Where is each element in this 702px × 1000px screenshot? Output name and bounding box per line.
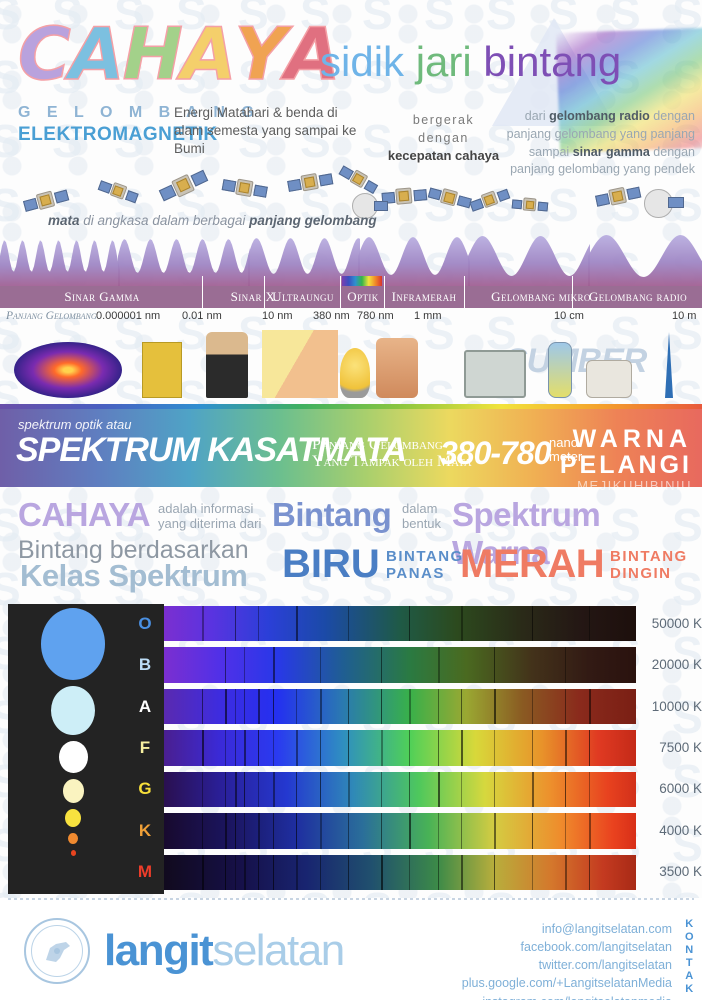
absorption-line: [494, 647, 495, 682]
bintang-dingin-line1: BINTANG: [610, 548, 688, 565]
class-letter-F: F: [126, 738, 164, 758]
contact-line[interactable]: twitter.com/langitselatan: [462, 956, 672, 974]
em-band-inframerah: Inframerah: [386, 286, 462, 308]
wavelength-label: 380 nm: [313, 310, 350, 322]
absorption-line: [565, 689, 566, 724]
absorption-line: [381, 689, 382, 724]
dengan2-text: dengan: [650, 145, 695, 159]
source-icon-row: SUMBER: [0, 328, 702, 406]
bintang-panas-line2: PANAS: [386, 565, 464, 582]
absorption-line: [235, 855, 236, 890]
absorption-line: [273, 813, 274, 848]
radiator-heater-icon: [376, 338, 418, 398]
wavelength-label: 0.000001 nm: [96, 310, 160, 322]
warna-label: WARNA: [560, 427, 692, 453]
subtitle-word-jari: jari: [416, 38, 484, 85]
header-col-energy: Energi Matahari & benda di alam semesta …: [174, 104, 359, 159]
em-spectrum-band-bar: Sinar GammaSinar XUltraunguOptikInframer…: [0, 286, 702, 308]
visible-spectrum-banner: spektrum optik atau SPEKTRUM KASATMATA P…: [0, 409, 702, 487]
star-disc-M: [71, 850, 76, 856]
absorption-line: [320, 813, 322, 848]
absorption-line: [494, 689, 496, 724]
absorption-line: [461, 606, 463, 641]
temperature-label-K: 4000 K: [640, 823, 702, 838]
sinar-gamma-text: sinar gamma: [573, 145, 650, 159]
band-divider: [464, 276, 465, 308]
spectrum-strip-rows: [164, 604, 636, 894]
em-band-sinar-gamma: Sinar Gamma: [4, 286, 200, 308]
em-band-optik: Optik: [342, 286, 384, 308]
spectral-class-chart: OBAFGKM 50000 K20000 K10000 K7500 K6000 …: [8, 604, 694, 894]
satellite-icon: [286, 165, 337, 203]
langitselatan-seal-logo: [24, 918, 90, 984]
satellite-icon: [593, 179, 644, 218]
contact-line[interactable]: instagram.com/langitselatanmedia: [462, 993, 672, 1000]
class-letter-G: G: [126, 779, 164, 799]
spectrum-strip-K: [164, 813, 636, 848]
absorption-line: [532, 689, 533, 724]
mata-text: mata: [48, 213, 80, 228]
absorption-line: [235, 689, 236, 724]
contact-line[interactable]: info@langitselatan.com: [462, 920, 672, 938]
title-letter-2: H: [123, 22, 181, 87]
absorption-line: [235, 772, 237, 807]
absorption-line: [202, 855, 204, 890]
star-disc-B: [51, 686, 95, 735]
absorption-line: [273, 647, 275, 682]
absorption-line: [589, 689, 591, 724]
em-band-ultraungu: Ultraungu: [266, 286, 340, 308]
star-disc-A: [59, 741, 88, 773]
temperature-label-F: 7500 K: [640, 740, 702, 755]
wavelength-label: 10 m: [672, 310, 696, 322]
warna-pelangi-block: WARNA PELANGI MEJIKUHIBINIU: [560, 427, 692, 495]
spectrum-strip-G: [164, 772, 636, 807]
absorption-line: [409, 606, 410, 641]
absorption-line: [225, 855, 226, 890]
panjang-gelombang-caption: Panjang Gelombang: [6, 310, 97, 322]
bintang-dingin-text: BINTANG DINGIN: [610, 548, 688, 583]
absorption-line: [438, 813, 439, 848]
temperature-label-B: 20000 K: [640, 657, 702, 672]
satellite-icon: [220, 171, 271, 209]
panjang-panjang-text: panjang gelombang yang panjang: [505, 126, 695, 144]
bintang-panas-text: BINTANG PANAS: [386, 548, 464, 583]
absorption-line: [381, 772, 382, 807]
absorption-line: [532, 606, 533, 641]
logo-langit: langit: [104, 926, 212, 975]
absorption-line: [273, 772, 275, 807]
absorption-line: [461, 689, 462, 724]
absorption-line: [532, 813, 533, 848]
absorption-line: [589, 730, 590, 765]
absorption-line: [348, 855, 349, 890]
dari-text: dari: [525, 109, 549, 123]
wavelength-label: 780 nm: [357, 310, 394, 322]
absorption-line: [202, 689, 203, 724]
satellite-icon: [95, 173, 143, 213]
absorption-line: [273, 855, 274, 890]
satellite-caption: mata di angkasa dalam berbagai panjang g…: [48, 213, 377, 228]
spectrum-strip-F: [164, 730, 636, 765]
temperature-label-A: 10000 K: [640, 699, 702, 714]
visible-band-swatch: [342, 276, 382, 286]
caption-mid-text: di angkasa dalam berbagai: [80, 213, 250, 228]
absorption-line: [438, 689, 439, 724]
absorption-line: [438, 855, 439, 890]
absorption-line: [225, 730, 226, 765]
bentuk-line2: bentuk: [402, 517, 441, 532]
absorption-line: [461, 855, 463, 890]
absorption-line: [320, 730, 321, 765]
bintang-dingin-line2: DINGIN: [610, 565, 688, 582]
absorption-line: [409, 689, 411, 724]
absorption-line: [438, 772, 440, 807]
bergerak-label: bergerak dengan: [386, 112, 501, 147]
kontak-letter: K: [685, 918, 694, 931]
satellite-icon: [467, 181, 515, 221]
page-subtitle: sidik jari bintang: [320, 38, 621, 86]
logo-selatan: selatan: [212, 926, 343, 975]
absorption-line: [244, 730, 246, 765]
wavelength-label: 10 cm: [554, 310, 584, 322]
absorption-line: [273, 730, 274, 765]
dalam-line1: dalam: [402, 502, 441, 517]
satellite-icon: [425, 180, 475, 219]
absorption-line: [461, 813, 462, 848]
absorption-line: [296, 730, 298, 765]
absorption-line: [258, 813, 260, 848]
absorption-line: [320, 647, 321, 682]
star-disc-F: [63, 779, 84, 803]
dotted-divider: [8, 898, 694, 900]
poster-footer: langitselatan info@langitselatan.comface…: [0, 898, 702, 1000]
mobile-phone-icon: [548, 342, 572, 398]
satellite-icon: [511, 191, 550, 218]
absorption-line: [348, 772, 350, 807]
page-title: CAHAYA: [18, 22, 338, 87]
statement-block: CAHAYA adalah informasi yang diterima da…: [0, 492, 702, 598]
microwave-oven-icon: [464, 350, 526, 398]
subtitle-word-sidik: sidik: [320, 38, 416, 85]
adalah-line2: yang diterima dari: [158, 517, 261, 532]
kontak-vertical-label: KONTAK: [685, 918, 694, 996]
spectrum-strip-B: [164, 647, 636, 682]
class-letter-column: OBAFGKM: [126, 604, 164, 894]
absorption-line: [589, 813, 591, 848]
kontak-letter: N: [685, 944, 694, 957]
subtitle-word-bintang: bintang: [483, 38, 621, 85]
absorption-line: [494, 855, 495, 890]
star-disc-O: [41, 608, 105, 680]
absorption-line: [296, 606, 298, 641]
absorption-line: [381, 730, 383, 765]
absorption-line: [235, 813, 236, 848]
contact-list: info@langitselatan.comfacebook.com/langi…: [462, 920, 672, 1000]
wavelength-label: 1 mm: [414, 310, 442, 322]
satellite-zone: mata di angkasa dalam berbagai panjang g…: [0, 165, 702, 287]
kontak-letter: O: [685, 931, 694, 944]
radiation-hazard-sign-icon: [142, 342, 182, 398]
star-disc-G: [65, 809, 81, 827]
absorption-line: [225, 813, 227, 848]
absorption-line: [202, 813, 203, 848]
dalam-bentuk-text: dalam bentuk: [402, 502, 441, 531]
spectrum-strip-M: [164, 855, 636, 890]
absorption-line: [258, 772, 259, 807]
absorption-line: [244, 855, 246, 890]
pelangi-label: PELANGI: [560, 453, 692, 479]
title-letter-0: C: [18, 22, 69, 87]
wavelength-label: 0.01 nm: [182, 310, 222, 322]
absorption-line: [494, 813, 496, 848]
bintang-panas-line1: BINTANG: [386, 548, 464, 565]
sampai-text: sampai: [529, 145, 573, 159]
kontak-letter: T: [685, 957, 694, 970]
absorption-line: [565, 772, 566, 807]
bintang-word: Bintang: [272, 496, 391, 534]
title-letter-1: A: [69, 22, 123, 87]
band-divider: [384, 276, 385, 308]
class-letter-K: K: [126, 821, 164, 841]
sunbathing-woman-icon: [262, 330, 338, 398]
absorption-line: [348, 606, 349, 641]
xray-boy-icon: [206, 332, 248, 398]
absorption-line: [461, 730, 463, 765]
absorption-line: [565, 813, 566, 848]
satellite-icon: [381, 181, 429, 215]
absorption-line: [565, 647, 566, 682]
poster-header: CAHAYA sidik jari bintang G E L O M B A …: [0, 0, 702, 165]
absorption-line: [202, 606, 204, 641]
absorption-line: [296, 855, 298, 890]
absorption-line: [225, 772, 226, 807]
absorption-line: [258, 689, 260, 724]
galaxy-gamma-map-icon: [14, 342, 122, 398]
absorption-line: [320, 689, 322, 724]
title-letter-4: Y: [235, 22, 285, 87]
absorption-line: [494, 730, 495, 765]
header-col-speed: bergerak dengan kecepatan cahaya: [386, 112, 501, 166]
absorption-line: [409, 730, 410, 765]
adalah-informasi-text: adalah informasi yang diterima dari: [158, 502, 261, 531]
radio-receiver-icon: [586, 360, 632, 398]
absorption-line: [296, 813, 297, 848]
adalah-line1: adalah informasi: [158, 502, 261, 517]
absorption-line: [258, 855, 259, 890]
langitselatan-wordmark: langitselatan: [104, 926, 344, 976]
absorption-line: [381, 813, 382, 848]
spectrum-strip-O: [164, 606, 636, 641]
absorption-line: [235, 606, 236, 641]
merah-word: MERAH: [460, 542, 604, 587]
class-letter-B: B: [126, 655, 164, 675]
absorption-line: [296, 772, 297, 807]
dengan-text: dengan: [650, 109, 695, 123]
absorption-line: [381, 647, 382, 682]
absorption-line: [348, 689, 349, 724]
infographic-poster: SSSSSSSSSSSSSSSSSSSSSSSSSSSSSSSSSSSSSSSS…: [0, 0, 702, 1000]
contact-line[interactable]: plus.google.com/+LangitselatanMedia: [462, 974, 672, 992]
absorption-line: [532, 855, 533, 890]
absorption-line: [565, 730, 567, 765]
title-letter-3: A: [181, 22, 235, 87]
temperature-label-G: 6000 K: [640, 781, 702, 796]
kontak-letter: K: [685, 983, 694, 996]
absorption-line: [235, 730, 236, 765]
band-divider: [264, 276, 265, 308]
absorption-line: [565, 855, 567, 890]
absorption-line: [320, 772, 321, 807]
absorption-line: [494, 772, 495, 807]
absorption-line: [589, 855, 590, 890]
class-letter-A: A: [126, 697, 164, 717]
wavelength-range-value: 380-780: [440, 435, 550, 472]
contact-line[interactable]: facebook.com/langitselatan: [462, 938, 672, 956]
absorption-line: [532, 772, 534, 807]
radio-tower-icon: [644, 332, 694, 398]
band-divider: [202, 276, 203, 308]
band-divider: [572, 276, 573, 308]
gelombang-radio-text: gelombang radio: [549, 109, 650, 123]
absorption-line: [438, 730, 439, 765]
absorption-line: [409, 772, 410, 807]
temperature-label-O: 50000 K: [640, 616, 702, 631]
wavelength-label: 10 nm: [262, 310, 293, 322]
absorption-line: [296, 689, 297, 724]
temperature-label-M: 3500 K: [640, 864, 702, 879]
star-disc-K: [68, 833, 78, 844]
absorption-line: [273, 689, 274, 724]
cahaya-word: CAHAYA: [18, 496, 150, 534]
absorption-line: [244, 647, 245, 682]
class-letter-M: M: [126, 862, 164, 882]
absorption-line: [409, 855, 410, 890]
kecepatan-cahaya-label: kecepatan cahaya: [388, 148, 499, 163]
absorption-line: [258, 606, 259, 641]
absorption-line: [348, 813, 349, 848]
wavelength-scale-row: Panjang Gelombang 0.000001 nm0.01 nm10 n…: [0, 310, 702, 326]
absorption-line: [409, 813, 411, 848]
band-divider: [340, 276, 341, 308]
absorption-line: [461, 772, 462, 807]
absorption-line: [244, 689, 245, 724]
panjang-gelombang-text: panjang gelombang: [249, 213, 377, 228]
class-letter-O: O: [126, 614, 164, 634]
biru-word: BIRU: [282, 542, 380, 587]
light-bulb-icon: [340, 348, 370, 398]
kontak-letter: A: [685, 970, 694, 983]
absorption-line: [225, 689, 227, 724]
absorption-line: [202, 772, 203, 807]
absorption-line: [320, 855, 321, 890]
satellite-icon: [155, 162, 215, 213]
absorption-line: [244, 772, 245, 807]
absorption-line: [589, 606, 590, 641]
absorption-line: [244, 813, 245, 848]
absorption-line: [258, 730, 259, 765]
kelas-spektrum-word: Kelas Spektrum: [20, 558, 247, 594]
spektrum-optik-label: spektrum optik atau: [18, 417, 131, 432]
absorption-line: [348, 730, 349, 765]
absorption-line: [532, 730, 533, 765]
absorption-line: [438, 647, 440, 682]
absorption-line: [381, 855, 383, 890]
absorption-line: [225, 647, 226, 682]
absorption-line: [202, 730, 204, 765]
spectrum-strip-A: [164, 689, 636, 724]
absorption-line: [589, 772, 590, 807]
em-band-gelombang-radio: Gelombang radio: [574, 286, 702, 308]
